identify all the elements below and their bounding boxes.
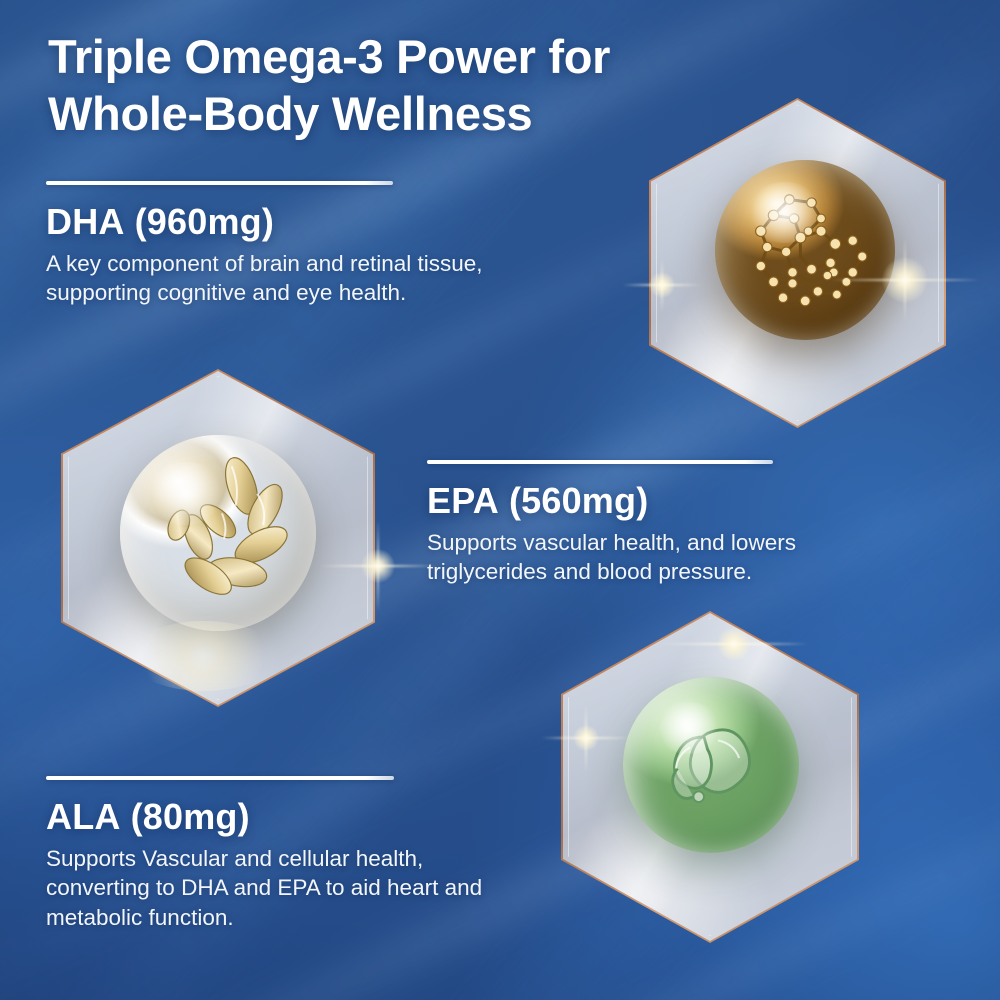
nutrient-description-dha-line-2: supporting cognitive and eye health. [46,278,396,307]
green-gel-sphere-image [623,677,799,853]
hex-card-epa [61,369,375,707]
gel-droplet-icon [623,677,799,853]
page-title-line-2: Whole-Body Wellness [48,85,768,142]
nutrient-description-dha-line-1: A key component of brain and retinal tis… [46,249,396,278]
nutrient-description-ala-line-2: converting to DHA and EPA to aid heart a… [46,873,396,902]
nutrient-description-epa: Supports vascular health, and lowers tri… [427,528,777,587]
gold-molecular-sphere-image [715,160,895,340]
nutrient-block-dha: DHA(960mg) A key component of brain and … [46,181,396,308]
nutrient-amount-epa: (560mg) [509,480,648,521]
hex-card-ala [561,611,859,943]
nutrient-heading-ala: ALA(80mg) [46,796,396,838]
nutrient-description-epa-line-2: triglycerides and blood pressure. [427,557,777,586]
nutrient-description-dha: A key component of brain and retinal tis… [46,249,396,308]
nutrient-amount-ala: (80mg) [131,796,250,837]
nutrient-description-ala-line-3: metabolic function. [46,903,396,932]
nutrient-heading-epa: EPA(560mg) [427,480,777,522]
divider-dha [46,181,393,185]
nutrient-description-ala: Supports Vascular and cellular health, c… [46,844,396,932]
orb-specular-ala [655,702,722,755]
nutrient-heading-dha: DHA(960mg) [46,201,396,243]
infographic-canvas: Triple Omega-3 Power for Whole-Body Well… [0,0,1000,1000]
page-title: Triple Omega-3 Power for Whole-Body Well… [48,28,768,143]
nutrient-block-epa: EPA(560mg) Supports vascular health, and… [427,460,777,587]
orb-specular-dha [747,182,823,243]
orb-specular-epa [147,462,225,525]
nutrient-name-dha: DHA [46,201,125,242]
softgel-capsules-icon [120,435,316,631]
nutrient-name-ala: ALA [46,796,121,837]
nutrient-amount-dha: (960mg) [135,201,274,242]
nutrient-name-epa: EPA [427,480,499,521]
nutrient-description-epa-line-1: Supports vascular health, and lowers [427,528,777,557]
hex-card-dha [649,98,946,428]
page-title-line-1: Triple Omega-3 Power for [48,28,768,85]
nutrient-description-ala-line-1: Supports Vascular and cellular health, [46,844,396,873]
divider-ala [46,776,394,780]
nutrient-block-ala: ALA(80mg) Supports Vascular and cellular… [46,776,396,932]
divider-epa [427,460,773,464]
clear-sphere-capsules-image [120,435,316,631]
